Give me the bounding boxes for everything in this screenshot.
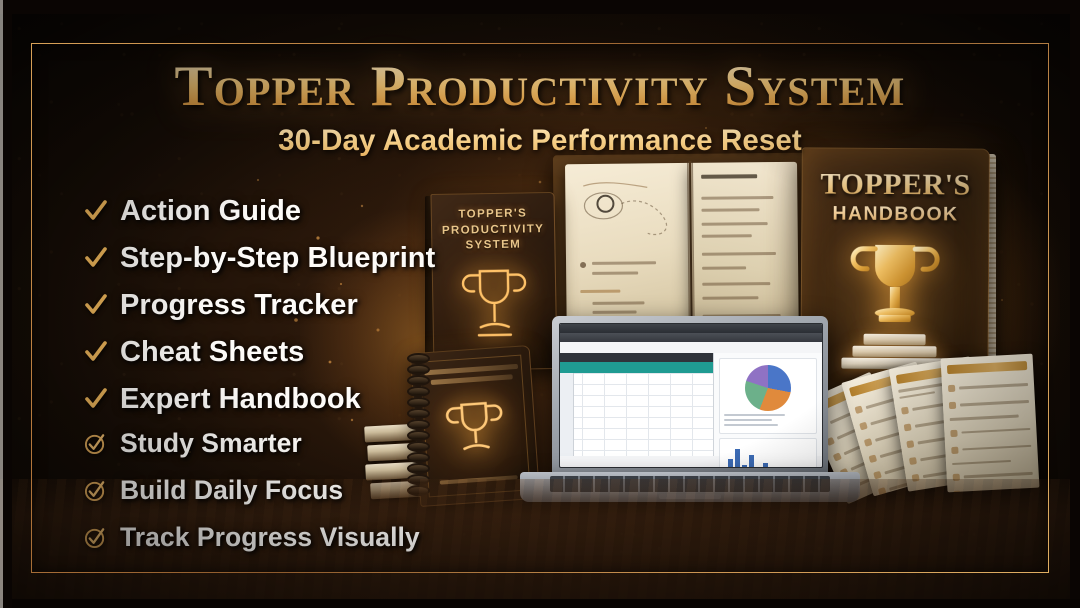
feature-label: Action Guide bbox=[120, 195, 301, 228]
check-circle-icon bbox=[84, 526, 107, 549]
laptop-trackpad bbox=[659, 494, 721, 499]
sheet-bullet-icon bbox=[859, 422, 868, 431]
app-ribbon bbox=[560, 333, 822, 342]
pie-legend bbox=[724, 414, 812, 426]
feature-item: Build Daily Focus bbox=[84, 468, 420, 513]
page-subtitle: 30-Day Academic Performance Reset bbox=[0, 124, 1080, 158]
edge-bottom-bar bbox=[0, 599, 1080, 608]
dashboard-pane bbox=[714, 353, 822, 456]
spreadsheet-toolbar bbox=[560, 353, 713, 362]
app-body bbox=[560, 353, 822, 456]
laptop-screen bbox=[559, 323, 823, 468]
sheet-bullet-icon bbox=[954, 491, 961, 493]
app-highlight-bar bbox=[560, 342, 822, 353]
feature-label: Build Daily Focus bbox=[120, 475, 343, 506]
handbook-title: TOPPER'S bbox=[803, 169, 989, 200]
sheet-bullet-icon bbox=[948, 385, 955, 392]
laptop-lid bbox=[552, 316, 828, 476]
check-icon bbox=[84, 339, 108, 365]
sheet-bullet-icon bbox=[864, 438, 873, 447]
edge-left-highlight bbox=[0, 0, 3, 608]
spreadsheet-grid bbox=[560, 373, 713, 456]
spreadsheet-pane bbox=[560, 353, 714, 456]
laptop-keyboard bbox=[550, 476, 830, 492]
feature-item: Study Smarter bbox=[84, 421, 420, 466]
center-book-line3: SYSTEM bbox=[432, 237, 554, 255]
feature-label: Cheat Sheets bbox=[120, 336, 304, 369]
feature-label: Step-by-Step Blueprint bbox=[120, 242, 435, 275]
check-icon bbox=[84, 245, 108, 271]
sheet-bullet-icon bbox=[912, 474, 920, 482]
bar-chart bbox=[724, 443, 812, 468]
sheet-bullet-icon bbox=[953, 474, 960, 481]
sheet-bullet-icon bbox=[901, 407, 909, 415]
feature-list-primary: Action Guide Step-by-Step Blueprint Prog… bbox=[84, 188, 435, 422]
center-book-line2: PRODUCTIVITY bbox=[432, 221, 554, 239]
check-icon bbox=[84, 386, 108, 412]
feature-label: Track Progress Visually bbox=[120, 522, 420, 553]
page-title: Topper Productivity System bbox=[0, 58, 1080, 115]
sheet-bullet-icon bbox=[878, 487, 887, 496]
cheat-sheet bbox=[941, 354, 1040, 493]
trophy-glow-icon bbox=[443, 394, 507, 464]
sheet-bullet-icon bbox=[904, 423, 912, 431]
product-laptop bbox=[520, 316, 860, 526]
pie-chart-card bbox=[719, 358, 817, 434]
feature-item: Step-by-Step Blueprint bbox=[84, 235, 435, 281]
feature-list-secondary: Study Smarter Build Daily Focus Track Pr… bbox=[84, 421, 420, 560]
handwritten-doodle-icon bbox=[573, 177, 682, 254]
feature-item: Track Progress Visually bbox=[84, 515, 420, 560]
check-circle-icon bbox=[84, 432, 107, 455]
feature-label: Study Smarter bbox=[120, 428, 302, 459]
promo-poster: TOPPER'S HANDBOOK TOPPER'S PRODUC bbox=[0, 0, 1080, 608]
sheet-header-bar bbox=[947, 361, 1027, 374]
feature-item: Progress Tracker bbox=[84, 282, 435, 328]
notebook-title-line1 bbox=[424, 364, 518, 376]
feature-label: Expert Handbook bbox=[120, 383, 361, 416]
feature-item: Action Guide bbox=[84, 188, 435, 234]
laptop-base bbox=[520, 472, 860, 502]
sheet-bullet-icon bbox=[950, 429, 957, 436]
app-titlebar bbox=[560, 324, 822, 333]
bar-chart-card bbox=[719, 438, 817, 468]
notebook-title-line2 bbox=[431, 374, 513, 385]
check-circle-icon bbox=[84, 479, 107, 502]
pie-chart bbox=[745, 365, 791, 411]
trophy-icon bbox=[847, 235, 944, 344]
sheet-bullet-icon bbox=[873, 471, 882, 480]
edge-right-bar bbox=[1070, 0, 1080, 608]
feature-item: Expert Handbook bbox=[84, 376, 435, 422]
sheet-bullet-icon bbox=[949, 402, 956, 409]
center-book-title: TOPPER'S PRODUCTIVITY SYSTEM bbox=[432, 206, 555, 255]
feature-item: Cheat Sheets bbox=[84, 329, 435, 375]
sheet-bullet-icon bbox=[869, 454, 878, 463]
edge-left-bar bbox=[3, 14, 12, 608]
check-icon bbox=[84, 198, 108, 224]
sheet-bullet-icon bbox=[909, 457, 917, 465]
spreadsheet-header-row bbox=[560, 362, 713, 373]
sheet-bullet-icon bbox=[906, 440, 914, 448]
feature-label: Progress Tracker bbox=[120, 289, 358, 322]
sheet-bullet-icon bbox=[951, 446, 958, 453]
handbook-subtitle: HANDBOOK bbox=[802, 202, 988, 226]
notebook-footer-line bbox=[440, 475, 518, 484]
edge-top-bar bbox=[0, 0, 1080, 14]
check-icon bbox=[84, 292, 108, 318]
